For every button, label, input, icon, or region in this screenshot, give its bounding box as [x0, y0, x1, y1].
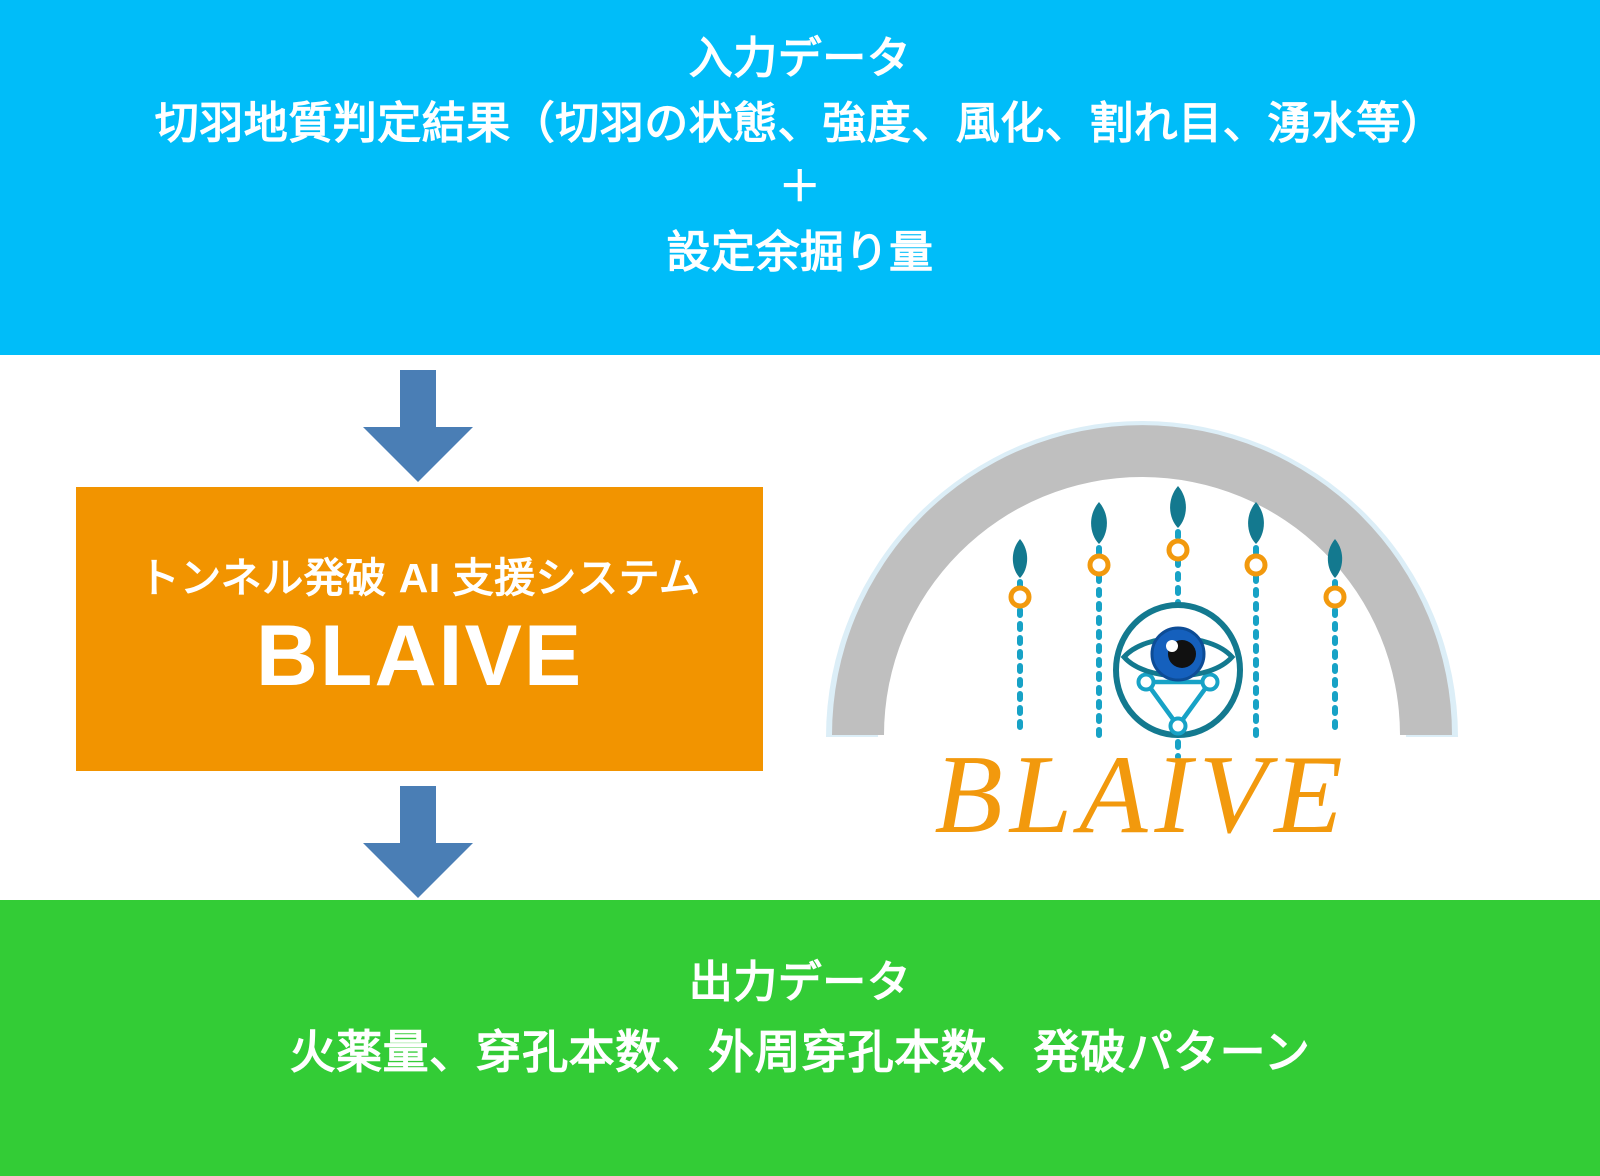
input-plus-symbol: ＋	[779, 163, 822, 210]
neural-node-bottom	[1171, 719, 1186, 734]
down-arrow-system-to-output	[363, 786, 473, 898]
eye-highlight	[1166, 640, 1178, 652]
charge-tip-4	[1248, 502, 1264, 544]
neural-node-left	[1139, 675, 1154, 690]
system-subtitle: トンネル発破 AI 支援システム	[139, 556, 701, 601]
input-detail-text: 切羽地質判定結果（切羽の状態、強度、風化、割れ目、湧水等）	[155, 99, 1446, 148]
charge-marker-2	[1090, 556, 1108, 574]
output-detail-text: 火薬量、穿孔本数、外周穿孔本数、発破パターン	[290, 1027, 1311, 1079]
drill-hole-4	[1247, 502, 1265, 737]
charge-tip-1	[1013, 539, 1027, 578]
system-box[interactable]: トンネル発破 AI 支援システム BLAIVE	[76, 487, 763, 771]
down-arrow-input-to-system	[363, 370, 473, 482]
input-title: 入力データ	[689, 34, 912, 83]
charge-marker-1	[1011, 588, 1029, 606]
ai-eye-emblem	[1116, 605, 1240, 735]
logo-wordmark: BLAIVE	[934, 733, 1349, 857]
drill-hole-2	[1090, 502, 1108, 737]
diagram-canvas: 入力データ 切羽地質判定結果（切羽の状態、強度、風化、割れ目、湧水等） ＋ 設定…	[0, 0, 1600, 1176]
charge-tip-2	[1091, 502, 1107, 544]
system-name: BLAIVE	[256, 611, 583, 701]
charge-marker-4	[1247, 556, 1265, 574]
drill-hole-1	[1011, 539, 1029, 732]
neural-node-right	[1203, 675, 1218, 690]
charge-marker-5	[1326, 588, 1344, 606]
charge-marker-3	[1169, 541, 1187, 559]
input-data-band: 入力データ 切羽地質判定結果（切羽の状態、強度、風化、割れ目、湧水等） ＋ 設定…	[0, 0, 1600, 355]
charge-tip-3	[1170, 486, 1186, 528]
blaive-logo: BLAIVE	[786, 392, 1498, 870]
output-data-band: 出力データ 火薬量、穿孔本数、外周穿孔本数、発破パターン	[0, 900, 1600, 1176]
input-extra-text: 設定余掘り量	[667, 228, 934, 277]
output-title: 出力データ	[689, 958, 912, 1007]
